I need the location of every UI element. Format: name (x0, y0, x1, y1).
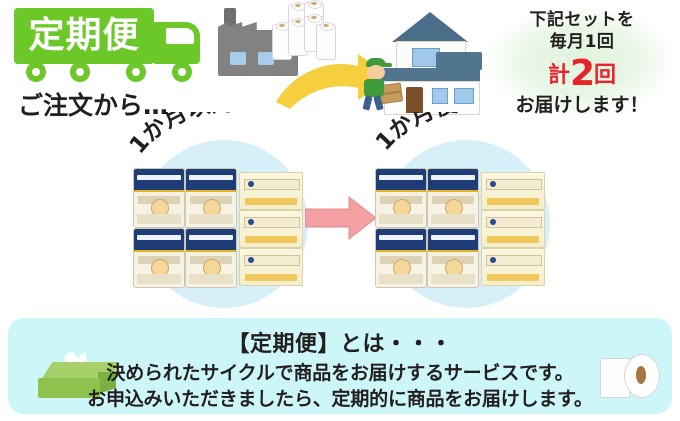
stage-caption-2-text: 1か月後 (371, 112, 461, 156)
total-prefix: 計 (548, 63, 570, 88)
panel-title: 【定期便】とは・・・ (0, 326, 680, 358)
paper-pack (375, 228, 427, 288)
truck-wheel (70, 62, 90, 82)
total-suffix: 回 (594, 63, 616, 88)
paper-pack (133, 168, 185, 228)
courier-head (367, 65, 385, 80)
infographic-root: 定期便 ご注文から… (0, 0, 680, 421)
stage-caption-1: 1か月以内 (115, 112, 335, 172)
tissue-box (481, 210, 545, 248)
paper-pack (427, 168, 479, 228)
courier-legs (364, 96, 384, 110)
tissue-box (481, 172, 545, 210)
svg-text:1か月以内: 1か月以内 (125, 112, 235, 159)
pink-right-arrow-icon (305, 196, 377, 240)
house-window (432, 88, 448, 104)
stage-caption-1-text: 1か月以内 (125, 112, 235, 159)
courier-body (364, 79, 384, 97)
paper-pack (375, 168, 427, 228)
panel-line2: お申込みいただきましたら、定期的に商品をお届けします。 (0, 384, 680, 411)
tissue-box (239, 210, 303, 248)
paper-pack (427, 228, 479, 288)
truck-window (166, 28, 194, 44)
truck-wheel (26, 62, 46, 82)
panel-line1: 決められたサイクルで商品をお届けするサービスです。 (0, 358, 680, 385)
house-window (454, 88, 474, 104)
product-group-2 (375, 168, 545, 288)
stage-caption-2: 1か月後 (358, 112, 578, 172)
total-count: 2 (570, 53, 594, 94)
delivery-person-icon (356, 58, 400, 110)
tissue-box (481, 248, 545, 286)
headline-total: 計2回 (486, 55, 678, 93)
paper-pack (185, 168, 237, 228)
headline-line2: 毎月1回 (486, 32, 678, 54)
paper-pack (185, 228, 237, 288)
delivery-truck-icon: 定期便 (14, 8, 204, 80)
svg-text:1か月後: 1か月後 (371, 112, 461, 156)
badge-label: 定期便 (14, 8, 154, 64)
headline-block: 下記セットを 毎月1回 計2回 お届けします！ (486, 10, 678, 118)
headline-line1: 下記セットを (486, 10, 678, 32)
truck-wheel (126, 62, 146, 82)
paper-pack (133, 228, 185, 288)
product-group-1 (133, 168, 303, 288)
truck-wheel (172, 62, 192, 82)
tissue-box (239, 248, 303, 286)
house-door (406, 87, 423, 113)
house-roof-upper (392, 12, 468, 42)
tissue-box (239, 172, 303, 210)
factory-window (230, 52, 246, 65)
